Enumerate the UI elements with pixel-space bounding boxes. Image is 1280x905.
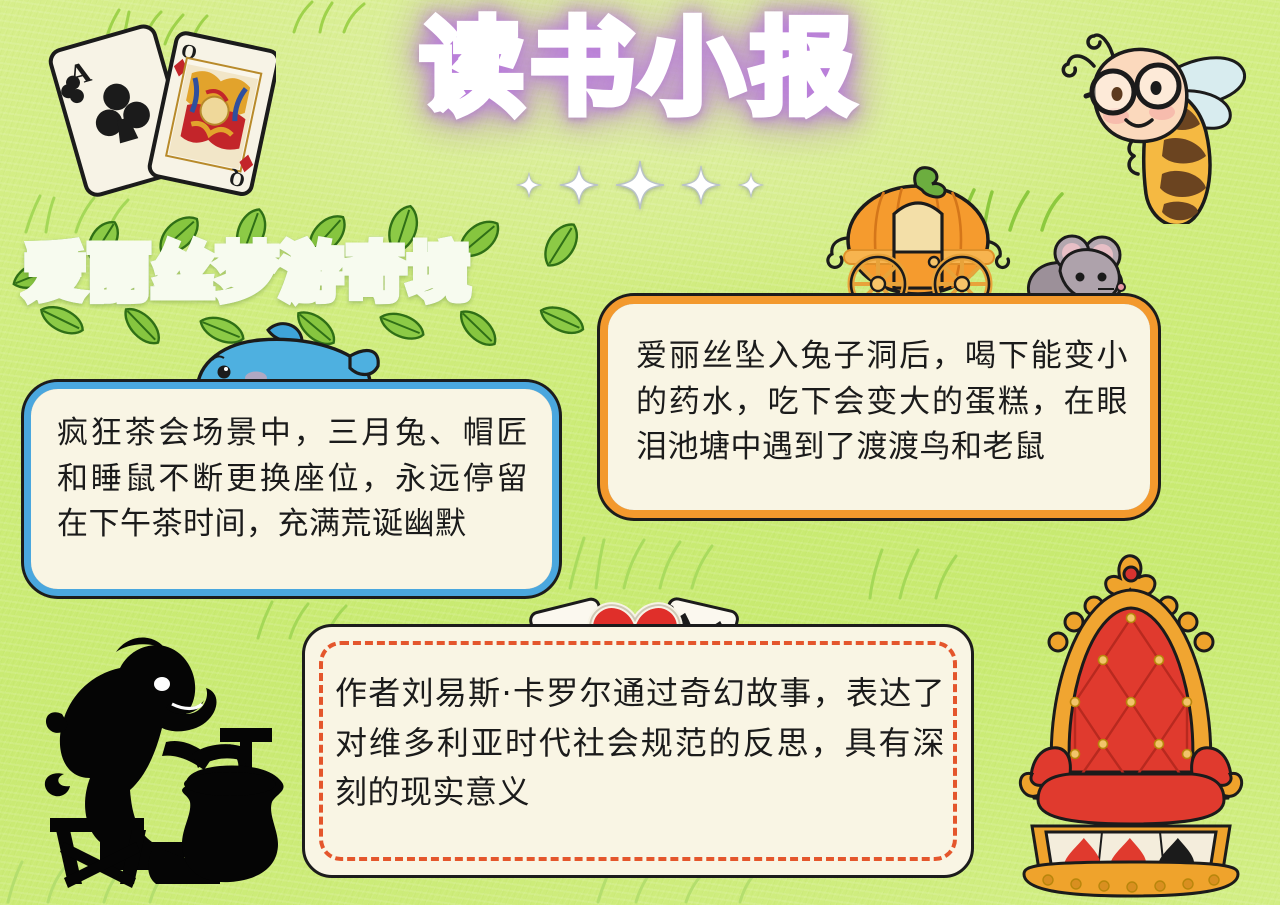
poster-canvas: 读书小报 A Q xyxy=(0,0,1280,905)
sparkle-star-icon xyxy=(615,160,665,210)
text-box-dashed: 作者刘易斯·卡罗尔通过奇幻故事，表达了对维多利亚时代社会规范的反思，具有深刻的现… xyxy=(302,624,974,878)
leaf-icon xyxy=(376,306,428,346)
leaf-icon xyxy=(36,300,88,340)
text-box-blue: 疯狂茶会场景中，三月兔、帽匠和睡鼠不断更换座位，永远停留在下午茶时间，充满荒诞幽… xyxy=(24,382,559,596)
box-orange-text: 爱丽丝坠入兔子洞后，喝下能变小的药水，吃下会变大的蛋糕，在眼泪池塘中遇到了渡渡鸟… xyxy=(636,334,1128,471)
sparkle-star-icon xyxy=(516,172,542,198)
sparkle-star-icon xyxy=(738,172,764,198)
page-title: 读书小报 xyxy=(420,12,860,124)
bear-pottery-silhouette-icon xyxy=(34,626,290,888)
bee-with-glasses-icon xyxy=(1030,14,1280,224)
subtitle: 爱丽丝梦游奇境 xyxy=(24,222,472,312)
red-throne-icon xyxy=(1008,544,1254,900)
leaf-icon xyxy=(534,220,588,270)
box-blue-text: 疯狂茶会场景中，三月兔、帽匠和睡鼠不断更换座位，永远停留在下午茶时间，充满荒诞幽… xyxy=(57,411,528,548)
text-box-orange: 爱丽丝坠入兔子洞后，喝下能变小的药水，吃下会变大的蛋糕，在眼泪池塘中遇到了渡渡鸟… xyxy=(600,296,1158,518)
grass-tuft-icon xyxy=(860,540,990,600)
leaf-icon xyxy=(116,306,168,346)
leaf-icon xyxy=(452,308,504,348)
grass-tuft-icon xyxy=(560,530,720,590)
playing-cards-ace-clubs-queen-diamonds-icon: A Q Q xyxy=(36,18,276,198)
box-dashed-text: 作者刘易斯·卡罗尔通过奇幻故事，表达了对维多利亚时代社会规范的反思，具有深刻的现… xyxy=(335,669,945,818)
leaf-icon xyxy=(536,300,588,340)
sparkle-star-icon xyxy=(681,165,721,205)
subtitle-band: 爱丽丝梦游奇境 xyxy=(0,196,620,336)
